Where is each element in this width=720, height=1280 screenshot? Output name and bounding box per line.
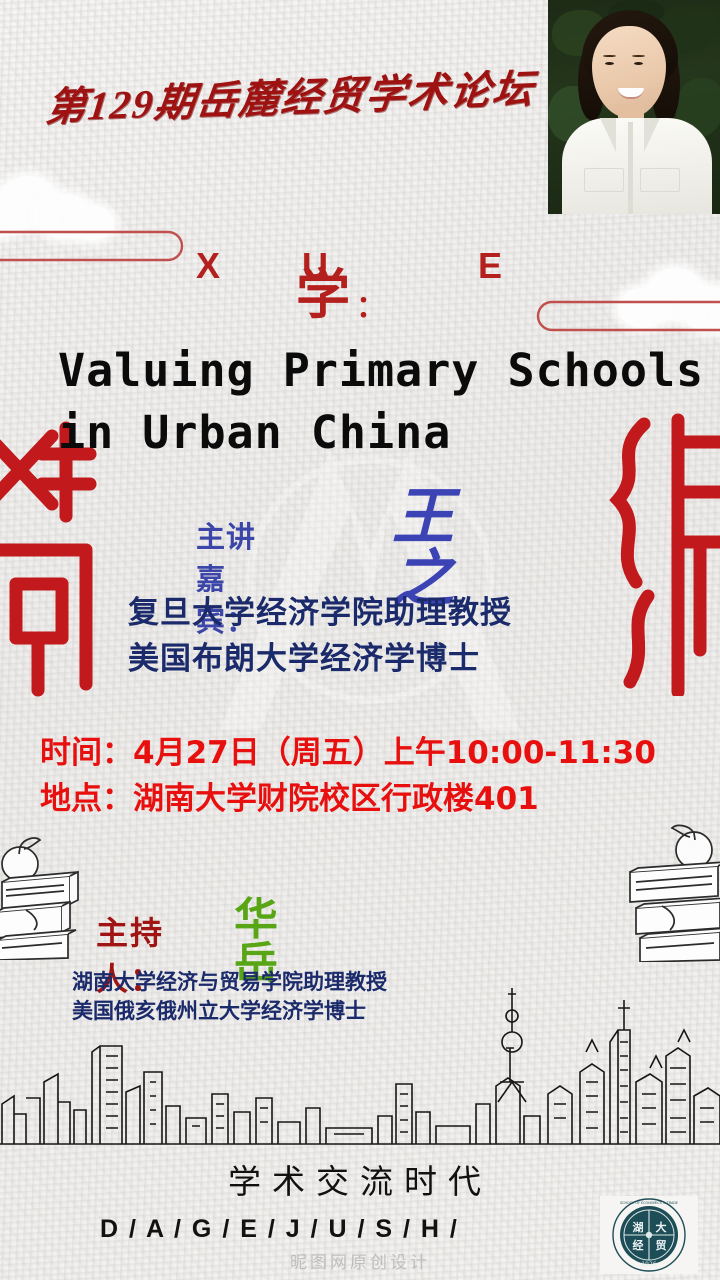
xue-colon: ： [356,282,386,326]
speaker-credentials: 复旦大学经济学院助理教授 美国布朗大学经济学博士 [128,590,648,682]
speaker-credential-line1: 复旦大学经济学院助理教授 [128,590,648,636]
event-info: 时间：4月27日（周五）上午10:00-11:30 地点：湖南大学财院校区行政楼… [40,730,720,822]
footer-en-tagline: D / A / G / E / J / U / S / H / [100,1215,560,1244]
svg-text:大: 大 [656,1220,667,1234]
hairpin-line-left [0,218,190,274]
svg-text:贸: 贸 [656,1238,667,1252]
speaker-credential-line2: 美国布朗大学经济学博士 [128,636,648,682]
lecture-title-line1: Valuing Primary Schools [58,340,708,402]
xue-han-character: 学 [296,268,350,322]
svg-text:湖: 湖 [633,1220,644,1234]
xue-letter-x: X [196,248,220,284]
xue-letter-e: E [478,248,502,284]
lecture-title-line2: in Urban China [58,402,708,464]
event-place: 地点：湖南大学财院校区行政楼401 [40,776,720,822]
svg-text:SCHOOL OF ECONOMICS & TRADE: SCHOOL OF ECONOMICS & TRADE [620,1201,678,1205]
svg-text:经: 经 [633,1238,644,1252]
event-time: 时间：4月27日（周五）上午10:00-11:30 [40,730,720,776]
hairpin-line-right [530,288,720,344]
city-skyline-illustration [0,986,720,1146]
speaker-photo [548,0,720,214]
lecture-title: Valuing Primary Schools in Urban China [58,340,708,464]
books-illustration-right [622,822,720,962]
forum-title-text: 第129期岳麓经贸学术论坛 [42,61,502,138]
svg-text:1926: 1926 [641,1261,656,1268]
university-logo: 湖 大 经 贸 1926 SCHOOL OF ECONOMICS & TRADE [600,1196,698,1274]
forum-title: 第129期岳麓经贸学术论坛 [46,78,496,144]
poster-canvas: 第129期岳麓经贸学术论坛 X U E 学 ： [0,0,720,1280]
